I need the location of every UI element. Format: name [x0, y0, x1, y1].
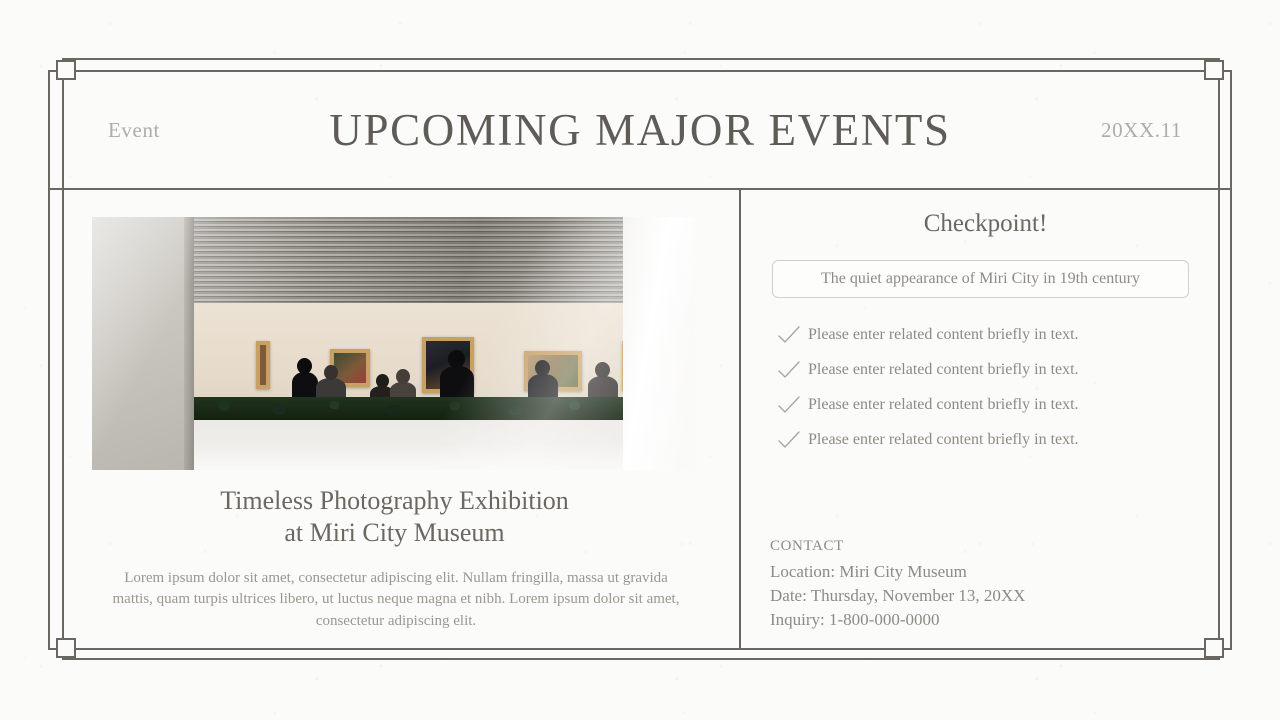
list-item-label: Please enter related content briefly in … [808, 361, 1079, 379]
checkpoint-highlight-text: The quiet appearance of Miri City in 19t… [821, 270, 1140, 288]
header-eyebrow: Event [108, 118, 160, 143]
exhibition-caption: Timeless Photography Exhibition at Miri … [50, 485, 739, 549]
contact-heading: CONTACT [770, 538, 1210, 555]
corner-marker-top-right [1204, 60, 1224, 80]
right-content-column: Checkpoint! The quiet appearance of Miri… [741, 190, 1230, 650]
checkpoint-title: Checkpoint! [741, 210, 1230, 238]
corner-marker-top-left [56, 60, 76, 80]
checkpoint-list: Please enter related content briefly in … [770, 317, 1210, 457]
column-divider [739, 189, 741, 650]
contact-date: Date: Thursday, November 13, 20XX [770, 584, 1210, 608]
checkpoint-highlight-box[interactable]: The quiet appearance of Miri City in 19t… [772, 260, 1189, 298]
photo-visitor-2-head [324, 365, 338, 380]
exhibition-caption-line-2: at Miri City Museum [50, 517, 739, 549]
corner-marker-bottom-right [1204, 638, 1224, 658]
corner-marker-bottom-left [56, 638, 76, 658]
photo-ceiling-shading [194, 217, 695, 303]
exhibition-caption-line-1: Timeless Photography Exhibition [50, 485, 739, 517]
list-item-label: Please enter related content briefly in … [808, 396, 1079, 414]
photo-left-wall [92, 217, 194, 470]
list-item[interactable]: Please enter related content briefly in … [770, 352, 1210, 387]
contact-inquiry: Inquiry: 1-800-000-0000 [770, 608, 1210, 632]
check-icon [770, 360, 808, 380]
exhibition-description: Lorem ipsum dolor sit amet, consectetur … [112, 568, 680, 632]
photo-visitor-1-head [297, 358, 312, 374]
check-icon [770, 430, 808, 450]
list-item[interactable]: Please enter related content briefly in … [770, 387, 1210, 422]
photo-painting-1 [256, 341, 270, 389]
list-item[interactable]: Please enter related content briefly in … [770, 317, 1210, 352]
list-item[interactable]: Please enter related content briefly in … [770, 422, 1210, 457]
slide-header: Event UPCOMING MAJOR EVENTS 20XX.11 [50, 72, 1230, 188]
photo-visitor-6-head [535, 360, 550, 376]
check-icon [770, 395, 808, 415]
contact-block: CONTACT Location: Miri City Museum Date:… [770, 538, 1210, 632]
photo-visitor-3-head [376, 374, 389, 388]
photo-hedge-planter [194, 397, 695, 420]
left-content-column: Timeless Photography Exhibition at Miri … [50, 190, 739, 650]
list-item-label: Please enter related content briefly in … [808, 326, 1079, 344]
photo-white-column [623, 217, 695, 470]
photo-floor-highlight [194, 444, 695, 470]
contact-location: Location: Miri City Museum [770, 560, 1210, 584]
photo-visitor-7-head [595, 362, 610, 378]
header-divider [50, 188, 1230, 190]
page-title: UPCOMING MAJOR EVENTS [50, 104, 1230, 156]
list-item-label: Please enter related content briefly in … [808, 431, 1079, 449]
museum-gallery-photo [92, 217, 695, 470]
photo-visitor-5-head [448, 350, 465, 368]
photo-visitor-4-head [396, 369, 410, 384]
header-date: 20XX.11 [1101, 118, 1182, 143]
check-icon [770, 325, 808, 345]
